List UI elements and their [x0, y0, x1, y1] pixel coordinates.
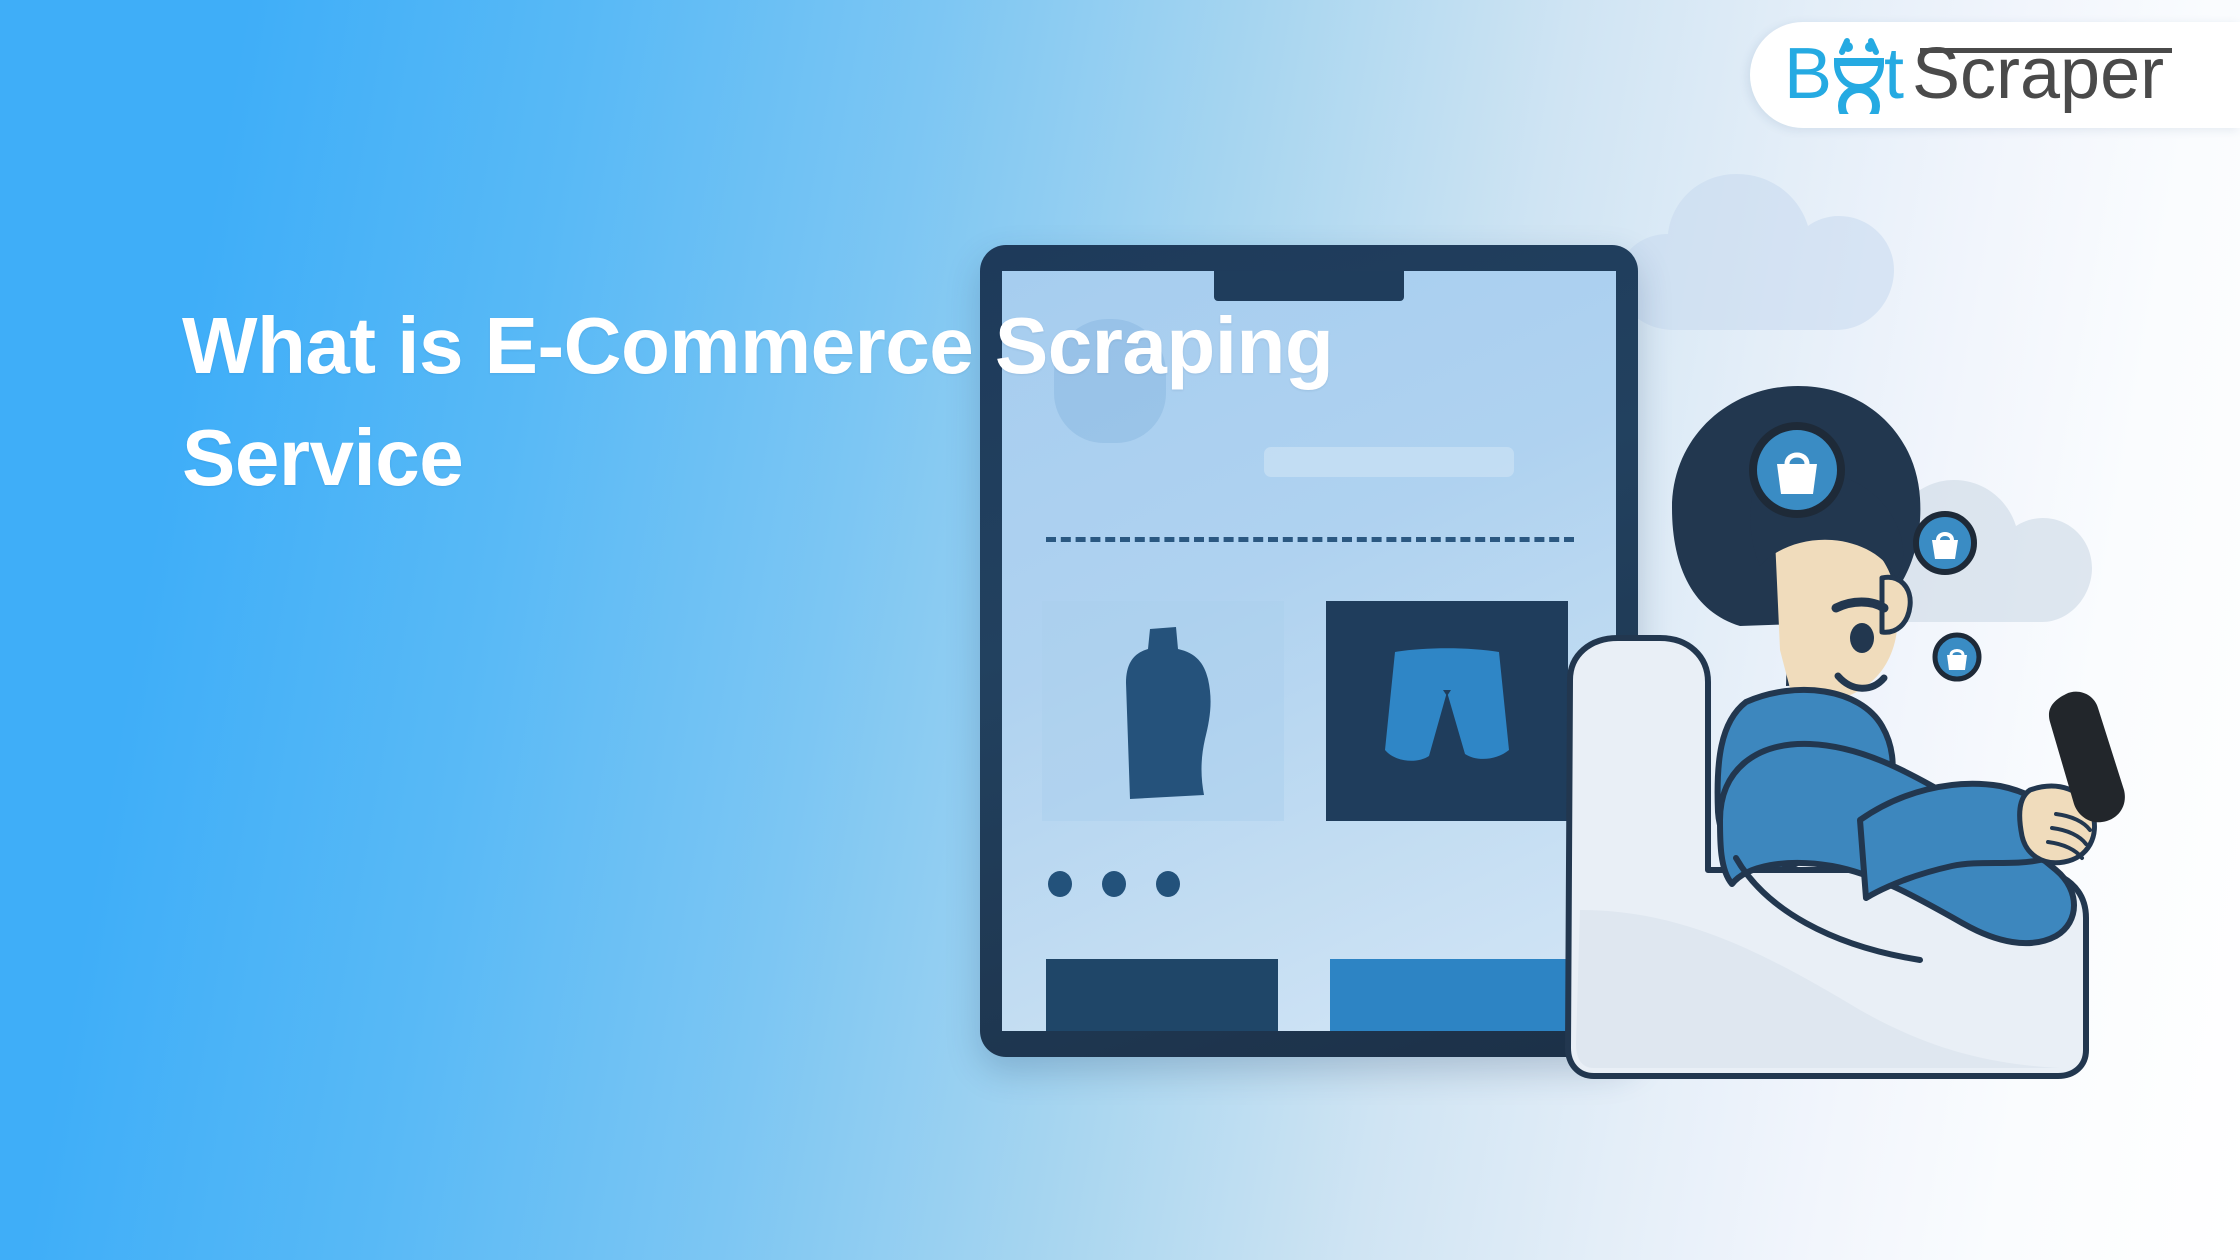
primary-action-button[interactable] — [1046, 959, 1278, 1031]
banner-canvas: What is E-Commerce Scraping Service — [0, 0, 2240, 1260]
pagination-dot[interactable] — [1048, 871, 1072, 897]
dashed-divider — [1046, 537, 1574, 542]
product-card-shorts[interactable] — [1326, 601, 1568, 821]
logo-word-scraper: Scraper — [1912, 36, 2164, 114]
tablet-camera-notch — [1214, 271, 1404, 301]
shopping-bag-bubble-large — [1745, 418, 1849, 522]
shopping-bag-bubble-medium — [1910, 508, 1980, 578]
eye — [1850, 623, 1874, 653]
shopping-bag-bubble-small — [1930, 630, 1984, 684]
product-card-sleeveless-top[interactable] — [1042, 601, 1284, 821]
tablet-illustration — [980, 245, 1638, 1057]
bot-face-glyph — [1834, 41, 1884, 114]
pagination-dot[interactable] — [1156, 871, 1180, 897]
secondary-action-button[interactable] — [1330, 959, 1568, 1031]
shopping-bag-icon — [1947, 655, 1967, 670]
shopping-bag-icon — [1777, 464, 1817, 494]
seated-woman-with-phone — [1560, 350, 2220, 1090]
logo-letter-t: t — [1884, 36, 1904, 114]
pagination-dot[interactable] — [1102, 871, 1126, 897]
tablet-screen — [1002, 271, 1616, 1031]
botscraper-logo: B t Scraper — [1784, 36, 2184, 114]
logo-letter-b: B — [1784, 36, 1832, 114]
sleeveless-top-icon — [1100, 623, 1226, 799]
profile-avatar-placeholder — [1054, 319, 1166, 443]
title-text-placeholder — [1264, 447, 1514, 477]
shorts-icon — [1377, 646, 1517, 776]
shopping-bag-icon — [1932, 540, 1958, 559]
logo-overline — [1920, 48, 2172, 53]
brand-logo[interactable]: B t Scraper — [1750, 22, 2240, 128]
pagination-dots[interactable] — [1048, 871, 1180, 897]
